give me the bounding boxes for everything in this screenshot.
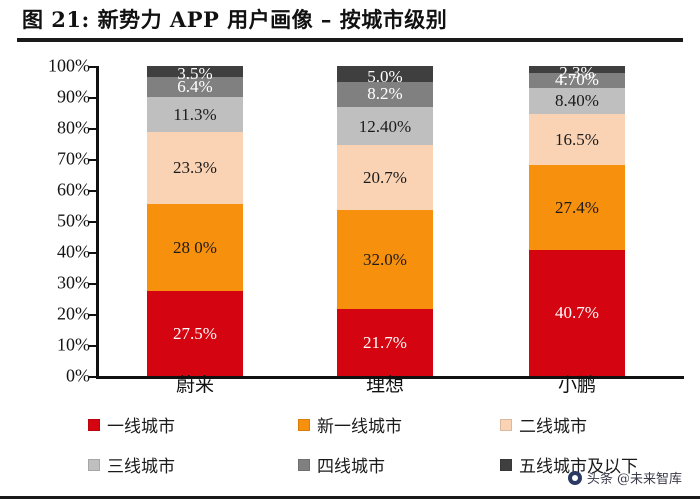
- bar-segment-label: 3.5%: [177, 65, 212, 82]
- y-axis-tick-mark: [88, 97, 97, 99]
- watermark: 头条 @未来智库: [568, 468, 682, 487]
- bar-segment-label: 27.4%: [555, 199, 599, 216]
- legend-swatch: [500, 419, 512, 431]
- y-axis-tick-label: 100%: [18, 56, 90, 77]
- bar-segment-label: 21.7%: [363, 334, 407, 351]
- bar-segment-label: 28 0%: [173, 239, 217, 256]
- stacked-bar[interactable]: 40.7%27.4%16.5%8.40%4.70%2.3%: [529, 66, 625, 376]
- y-axis-tick-label: 50%: [18, 211, 90, 232]
- bar-segment[interactable]: 27.5%: [147, 291, 243, 376]
- legend-swatch: [298, 419, 310, 431]
- bar-segment[interactable]: 21.7%: [337, 309, 433, 376]
- legend-item[interactable]: 四线城市: [298, 452, 385, 477]
- plot-area: 27.5%28 0%23.3%11.3%6.4%3.5%21.7%32.0%20…: [99, 66, 683, 376]
- y-axis-tick-label: 90%: [18, 87, 90, 108]
- y-axis-tick-mark: [88, 221, 97, 223]
- bar-segment-label: 32.0%: [363, 251, 407, 268]
- bar-segment-label: 40.7%: [555, 304, 599, 321]
- bar-segment[interactable]: 40.7%: [529, 250, 625, 376]
- bar-segment[interactable]: 16.5%: [529, 114, 625, 165]
- legend-item[interactable]: 新一线城市: [298, 412, 402, 437]
- bar-segment[interactable]: 2.3%: [529, 66, 625, 73]
- bar-segment[interactable]: 20.7%: [337, 145, 433, 209]
- legend-item[interactable]: 二线城市: [500, 412, 587, 437]
- bar-segment-label: 2.3%: [559, 64, 594, 81]
- y-axis-tick-label: 60%: [18, 180, 90, 201]
- bar-segment-label: 23.3%: [173, 159, 217, 176]
- y-axis-tick-label: 20%: [18, 304, 90, 325]
- y-axis-tick-mark: [88, 159, 97, 161]
- y-axis-tick-label: 0%: [18, 366, 90, 387]
- y-axis-tick-label: 10%: [18, 335, 90, 356]
- bar-segment-label: 8.40%: [555, 92, 599, 109]
- bar-segment-label: 12.40%: [359, 118, 411, 135]
- circle-badge-icon: [568, 471, 582, 485]
- y-axis-tick-mark: [88, 376, 97, 378]
- y-axis-tick-mark: [88, 190, 97, 192]
- legend-item[interactable]: 一线城市: [88, 412, 175, 437]
- y-axis-tick-mark: [88, 314, 97, 316]
- bar-group: 21.7%32.0%20.7%12.40%8.2%5.0%: [337, 66, 433, 376]
- bar-segment[interactable]: 28 0%: [147, 204, 243, 291]
- bar-segment[interactable]: 11.3%: [147, 97, 243, 132]
- bar-segment[interactable]: 12.40%: [337, 107, 433, 145]
- bottom-divider: [0, 496, 700, 499]
- y-axis-tick-mark: [88, 66, 97, 68]
- y-axis-tick-mark: [88, 283, 97, 285]
- x-axis-category-label: 理想: [315, 370, 455, 397]
- legend-swatch: [500, 459, 512, 471]
- chart-area: 100%90%80%70%60%50%40%30%20%10%0% 27.5%2…: [0, 52, 700, 407]
- page-title: 图 21: 新势力 APP 用户画像 – 按城市级别: [22, 4, 447, 34]
- bar-group: 27.5%28 0%23.3%11.3%6.4%3.5%: [147, 66, 243, 376]
- watermark-text: 头条 @未来智库: [587, 468, 682, 487]
- y-axis-tick-mark: [88, 128, 97, 130]
- legend-label: 四线城市: [317, 452, 385, 477]
- x-axis-category-label: 蔚来: [125, 370, 265, 397]
- title-block: 图 21: 新势力 APP 用户画像 – 按城市级别: [0, 0, 700, 48]
- legend-label: 新一线城市: [317, 412, 402, 437]
- stacked-bar[interactable]: 21.7%32.0%20.7%12.40%8.2%5.0%: [337, 66, 433, 376]
- bar-segment[interactable]: 23.3%: [147, 132, 243, 204]
- y-axis-tick-mark: [88, 345, 97, 347]
- x-axis-category-label: 小鹏: [507, 370, 647, 397]
- y-axis-tick-label: 30%: [18, 273, 90, 294]
- legend-label: 二线城市: [519, 412, 587, 437]
- y-axis-tick-mark: [88, 252, 97, 254]
- legend-label: 一线城市: [107, 412, 175, 437]
- bar-segment-label: 20.7%: [363, 169, 407, 186]
- stacked-bar[interactable]: 27.5%28 0%23.3%11.3%6.4%3.5%: [147, 66, 243, 376]
- bar-segment-label: 27.5%: [173, 325, 217, 342]
- bar-segment[interactable]: 8.40%: [529, 88, 625, 114]
- legend-swatch: [88, 459, 100, 471]
- bar-segment-label: 8.2%: [367, 85, 402, 102]
- bar-segment-label: 16.5%: [555, 131, 599, 148]
- legend-label: 三线城市: [107, 452, 175, 477]
- bar-segment-label: 5.0%: [367, 68, 402, 85]
- y-axis: 100%90%80%70%60%50%40%30%20%10%0%: [18, 52, 90, 377]
- bar-segment-label: 11.3%: [173, 106, 216, 123]
- y-axis-tick-label: 70%: [18, 149, 90, 170]
- legend-item[interactable]: 三线城市: [88, 452, 175, 477]
- bar-group: 40.7%27.4%16.5%8.40%4.70%2.3%: [529, 66, 625, 376]
- y-axis-tick-label: 80%: [18, 118, 90, 139]
- title-divider: [17, 38, 683, 42]
- legend-swatch: [88, 419, 100, 431]
- legend-swatch: [298, 459, 310, 471]
- y-axis-tick-label: 40%: [18, 242, 90, 263]
- bar-segment[interactable]: 3.5%: [147, 66, 243, 77]
- bar-segment[interactable]: 27.4%: [529, 165, 625, 250]
- bar-segment[interactable]: 5.0%: [337, 66, 433, 82]
- chart-legend: 一线城市新一线城市二线城市三线城市四线城市五线城市及以下: [0, 404, 700, 476]
- bar-segment[interactable]: 32.0%: [337, 210, 433, 309]
